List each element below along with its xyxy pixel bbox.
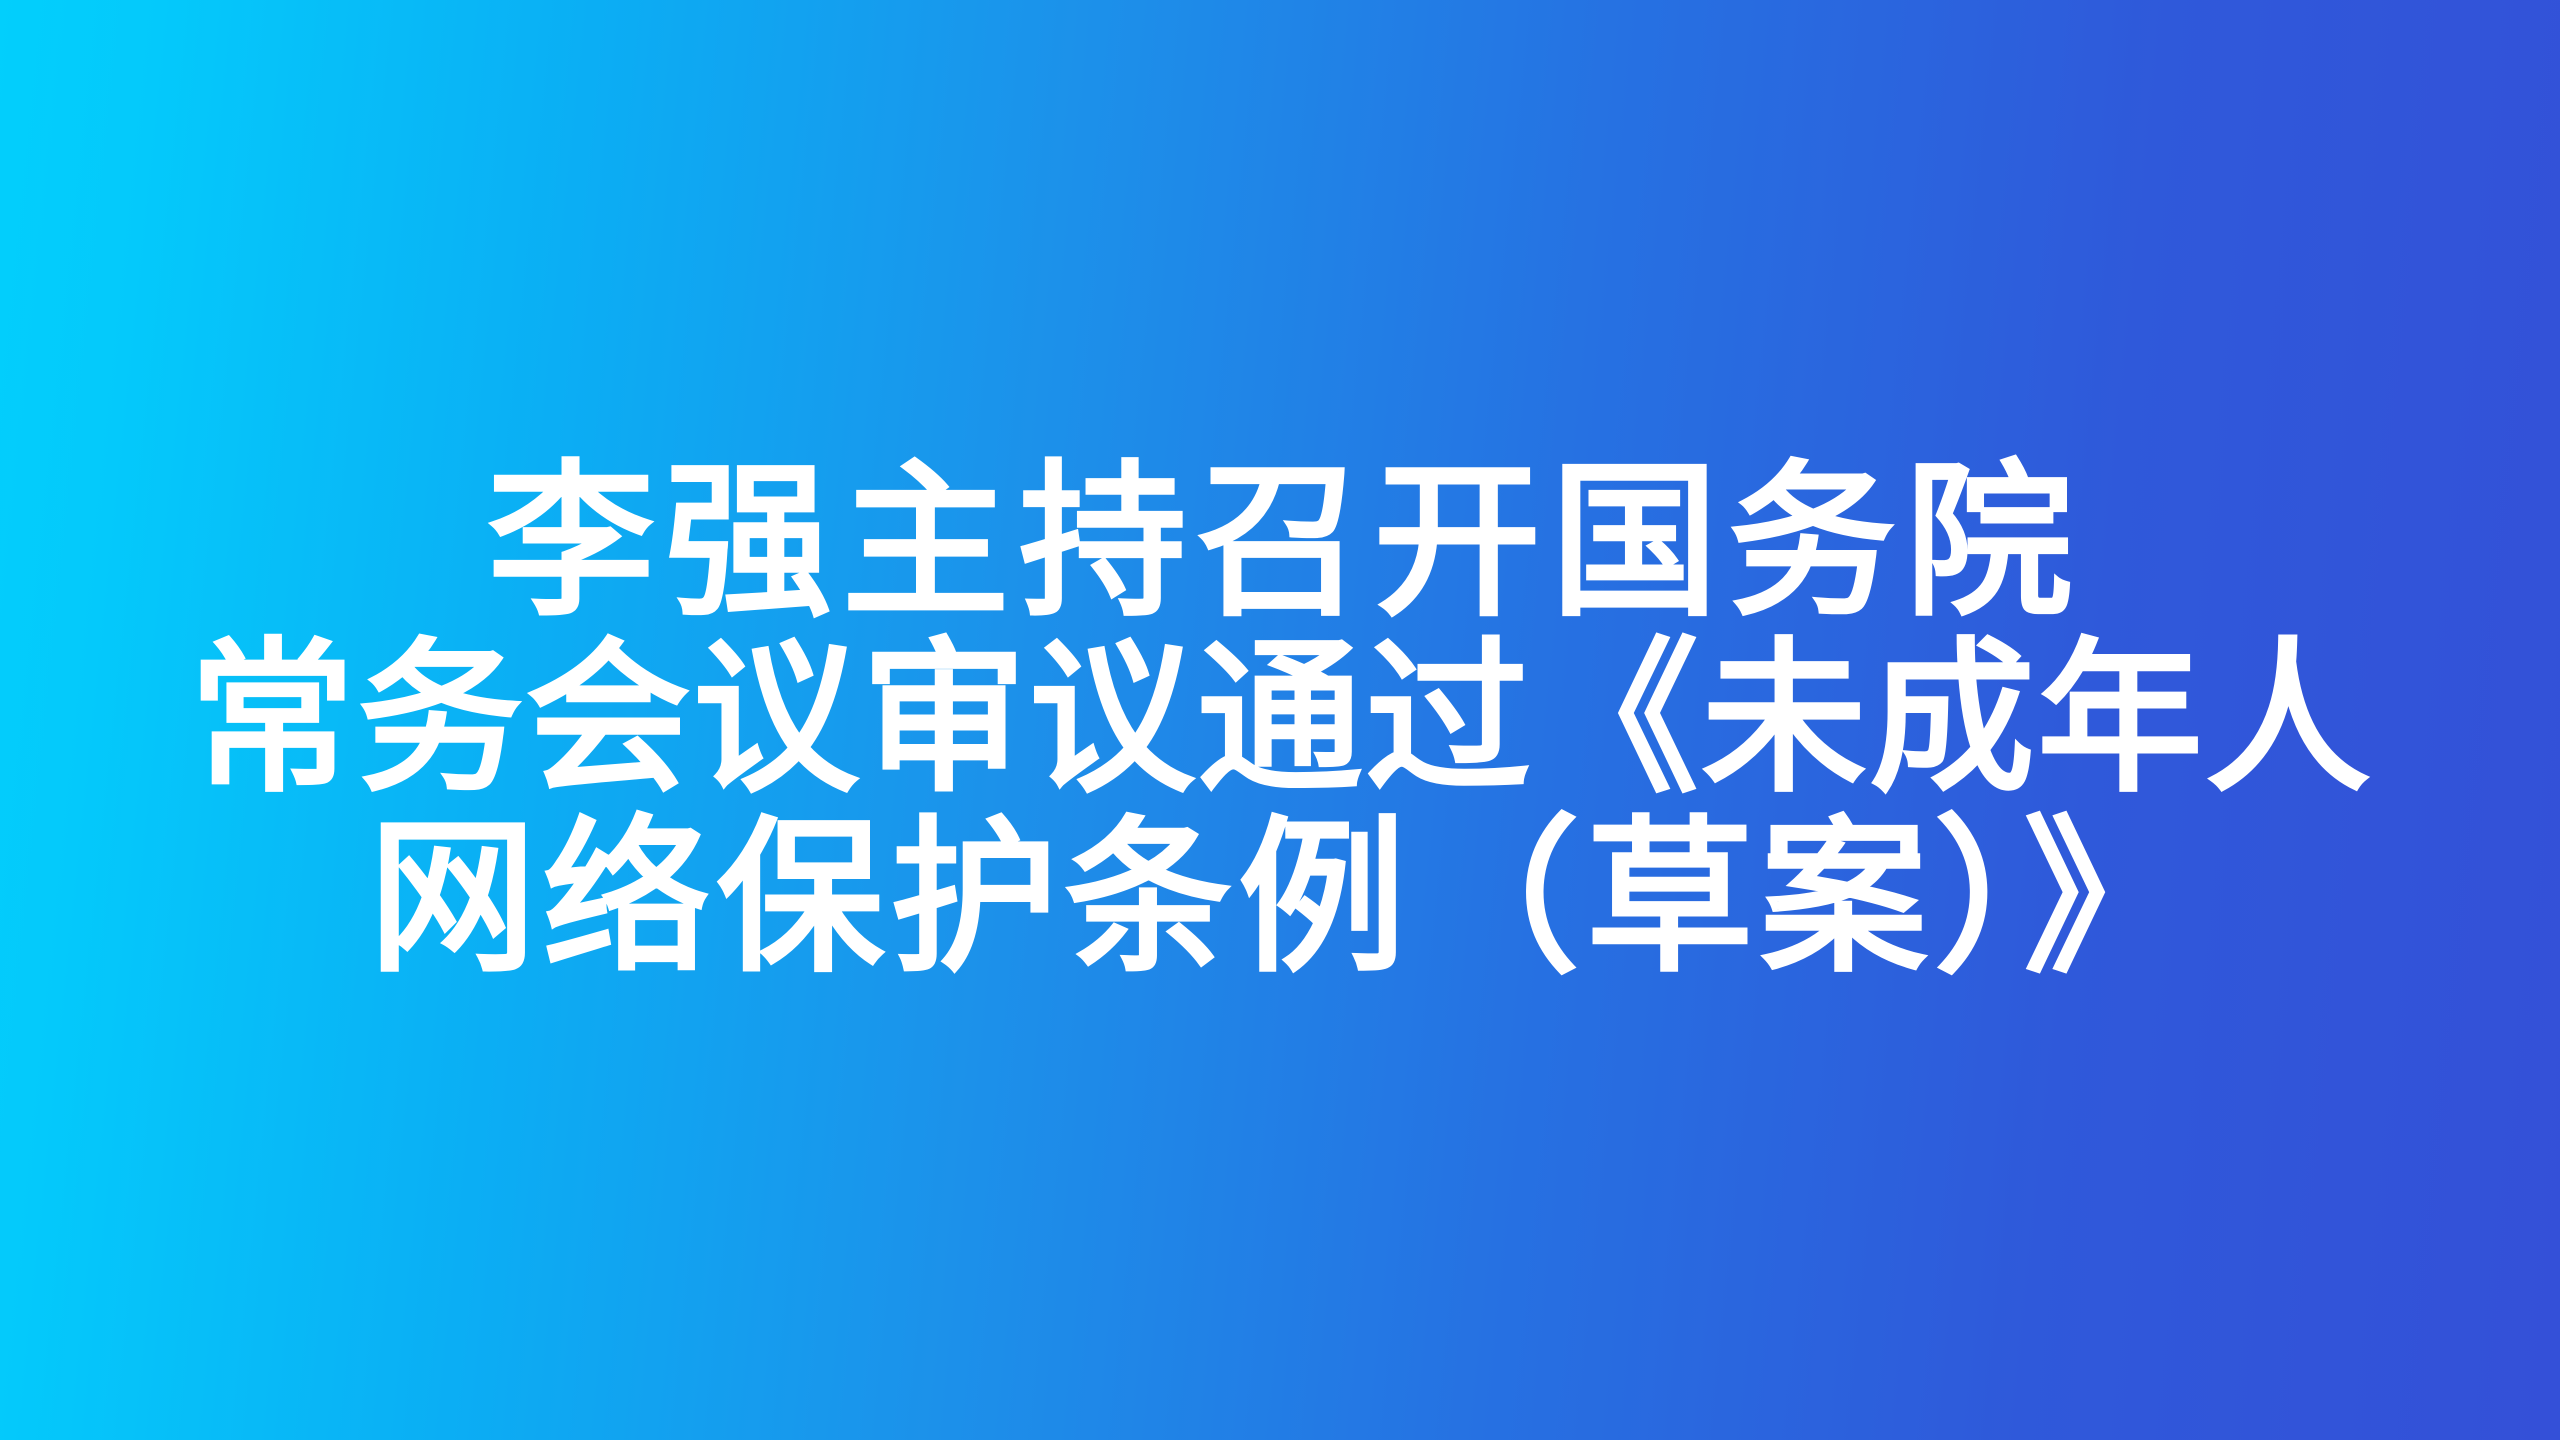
title-banner: 李强主持召开国务院 常务会议审议通过《未成年人 网络保护条例（草案）》 — [0, 0, 2560, 1440]
headline-line-1: 李强主持召开国务院 — [50, 453, 2510, 631]
headline-line-3: 网络保护条例（草案）》 — [50, 809, 2510, 987]
headline-line-2: 常务会议审议通过《未成年人 — [50, 631, 2510, 809]
headline-block: 李强主持召开国务院 常务会议审议通过《未成年人 网络保护条例（草案）》 — [50, 453, 2510, 987]
